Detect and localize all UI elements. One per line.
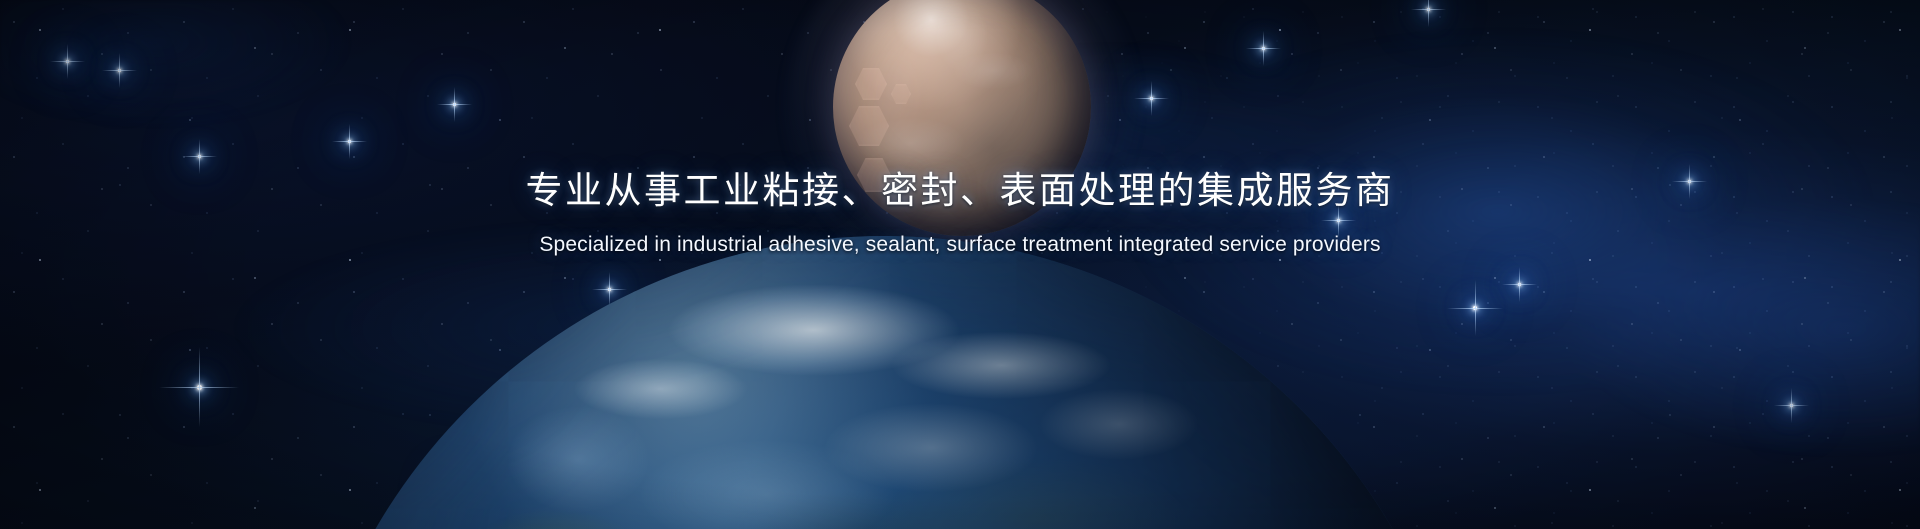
bright-star-icon <box>198 155 201 158</box>
bright-star-icon <box>1262 47 1265 50</box>
hero-banner: 专业从事工业粘接、密封、表面处理的集成服务商 Specialized in in… <box>0 0 1920 529</box>
bright-star-icon <box>1790 404 1793 407</box>
bright-star-icon <box>1150 97 1153 100</box>
bright-star-icon <box>1688 180 1691 183</box>
bright-star-icon <box>1337 219 1340 222</box>
bright-star-icon <box>118 69 121 72</box>
bright-star-icon <box>348 140 351 143</box>
bright-star-icon <box>197 385 202 390</box>
bright-star-icon <box>66 60 69 63</box>
earth-planet <box>296 236 1472 529</box>
bright-star-icon <box>453 103 456 106</box>
bright-star-icon <box>1427 8 1430 11</box>
bright-star-icon <box>1518 283 1521 286</box>
bright-star-icon <box>1473 306 1477 310</box>
